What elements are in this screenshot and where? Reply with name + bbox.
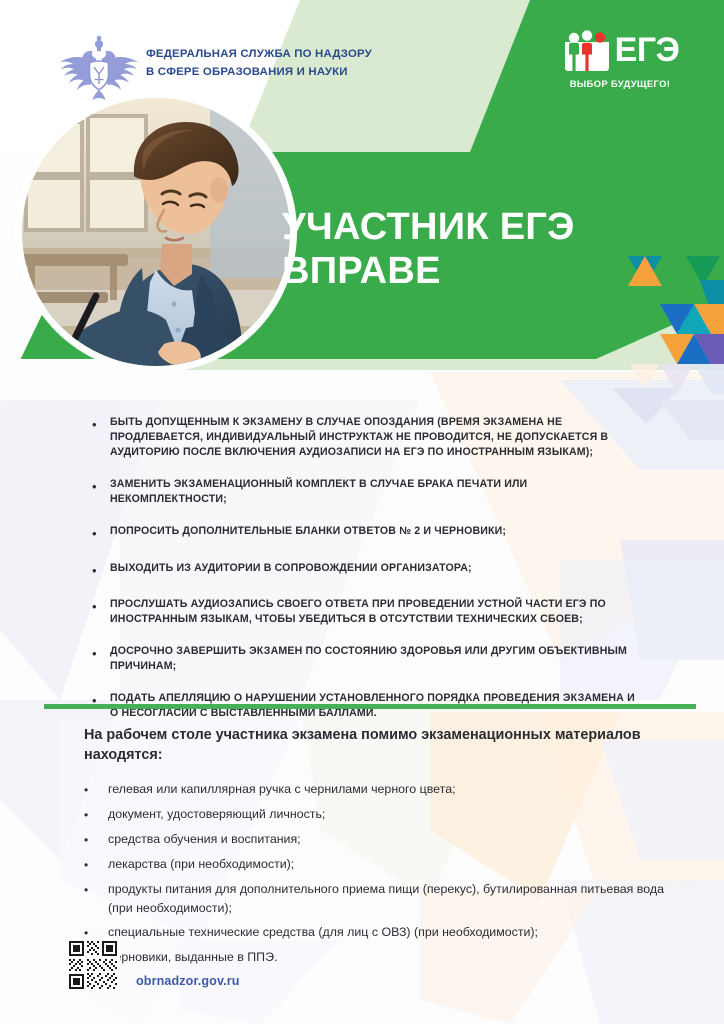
desk-item-text: лекарства (при необходимости); <box>108 855 294 874</box>
bullet-marker: • <box>84 780 108 799</box>
website-link[interactable]: obrnadzor.gov.ru <box>136 974 240 988</box>
list-item: • продукты питания для дополнительного п… <box>84 880 664 917</box>
list-item: • специальные технические средства (для … <box>84 923 664 942</box>
list-item: • гелевая или капиллярная ручка с чернил… <box>84 780 664 799</box>
bullet-marker: • <box>84 880 108 917</box>
rights-item-text: ДОСРОЧНО ЗАВЕРШИТЬ ЭКЗАМЕН ПО СОСТОЯНИЮ … <box>110 644 644 674</box>
desk-items-section: На рабочем столе участника экзамена поми… <box>84 725 664 973</box>
list-item: • ЗАМЕНИТЬ ЭКЗАМЕНАЦИОННЫЙ КОМПЛЕКТ В СЛ… <box>92 477 644 507</box>
student-photo <box>22 98 290 366</box>
desk-item-text: средства обучения и воспитания; <box>108 830 301 849</box>
rosobrnadzor-eagle-emblem-icon <box>56 34 142 104</box>
ege-three-figures-icon <box>561 28 613 72</box>
desk-item-text: гелевая или капиллярная ручка с чернилам… <box>108 780 456 799</box>
rights-item-text: ВЫХОДИТЬ ИЗ АУДИТОРИИ В СОПРОВОЖДЕНИИ ОР… <box>110 561 472 580</box>
bullet-marker: • <box>84 805 108 824</box>
ege-logo: ЕГЭ ВЫБОР БУДУЩЕГО! <box>552 28 688 90</box>
ege-logo-text: ЕГЭ <box>615 33 680 67</box>
bullet-marker: • <box>92 561 110 580</box>
list-item: • ПОПРОСИТЬ ДОПОЛНИТЕЛЬНЫЕ БЛАНКИ ОТВЕТО… <box>92 524 644 543</box>
rights-item-text: БЫТЬ ДОПУЩЕННЫМ К ЭКЗАМЕНУ В СЛУЧАЕ ОПОЗ… <box>110 415 644 460</box>
desk-item-text: черновики, выданные в ППЭ. <box>108 948 277 967</box>
org-name-line2: В СФЕРЕ ОБРАЗОВАНИЯ И НАУКИ <box>146 64 372 82</box>
desk-item-text: документ, удостоверяющий личность; <box>108 805 325 824</box>
desk-item-text: продукты питания для дополнительного при… <box>108 880 664 917</box>
list-item: • документ, удостоверяющий личность; <box>84 805 664 824</box>
desk-item-text: специальные технические средства (для ли… <box>108 923 538 942</box>
page-title: УЧАСТНИК ЕГЭ ВПРАВЕ <box>282 205 575 293</box>
rights-item-text: ЗАМЕНИТЬ ЭКЗАМЕНАЦИОННЫЙ КОМПЛЕКТ В СЛУЧ… <box>110 477 644 507</box>
section-divider <box>44 704 696 709</box>
rights-item-text: ПРОСЛУШАТЬ АУДИОЗАПИСЬ СВОЕГО ОТВЕТА ПРИ… <box>110 597 644 627</box>
triangle-mosaic-decoration-icon <box>600 238 724 403</box>
poster-root: ФЕДЕРАЛЬНАЯ СЛУЖБА ПО НАДЗОРУ В СФЕРЕ ОБ… <box>0 0 724 1024</box>
page-title-line1: УЧАСТНИК ЕГЭ <box>282 205 575 249</box>
ege-logo-mark: ЕГЭ <box>552 28 688 72</box>
list-item: • ДОСРОЧНО ЗАВЕРШИТЬ ЭКЗАМЕН ПО СОСТОЯНИ… <box>92 644 644 674</box>
bullet-marker: • <box>84 830 108 849</box>
desk-section-heading: На рабочем столе участника экзамена поми… <box>84 725 664 766</box>
student-writing-exam-photo-icon <box>22 98 290 366</box>
bullet-marker: • <box>92 644 110 674</box>
bullet-marker: • <box>92 415 110 460</box>
page-title-line2: ВПРАВЕ <box>282 249 575 293</box>
list-item: • ПРОСЛУШАТЬ АУДИОЗАПИСЬ СВОЕГО ОТВЕТА П… <box>92 597 644 627</box>
organization-name: ФЕДЕРАЛЬНАЯ СЛУЖБА ПО НАДЗОРУ В СФЕРЕ ОБ… <box>146 46 372 81</box>
bullet-marker: • <box>92 597 110 627</box>
ege-tagline: ВЫБОР БУДУЩЕГО! <box>552 79 688 90</box>
qr-code-icon[interactable] <box>66 938 120 992</box>
list-item: • черновики, выданные в ППЭ. <box>84 948 664 967</box>
org-name-line1: ФЕДЕРАЛЬНАЯ СЛУЖБА ПО НАДЗОРУ <box>146 46 372 64</box>
bullet-marker: • <box>84 855 108 874</box>
bullet-marker: • <box>92 477 110 507</box>
list-item: • БЫТЬ ДОПУЩЕННЫМ К ЭКЗАМЕНУ В СЛУЧАЕ ОП… <box>92 415 644 460</box>
rights-list: • БЫТЬ ДОПУЩЕННЫМ К ЭКЗАМЕНУ В СЛУЧАЕ ОП… <box>92 415 644 721</box>
list-item: • лекарства (при необходимости); <box>84 855 664 874</box>
list-item: • ВЫХОДИТЬ ИЗ АУДИТОРИИ В СОПРОВОЖДЕНИИ … <box>92 561 644 580</box>
rights-item-text: ПОПРОСИТЬ ДОПОЛНИТЕЛЬНЫЕ БЛАНКИ ОТВЕТОВ … <box>110 524 506 543</box>
bullet-marker: • <box>92 524 110 543</box>
list-item: • средства обучения и воспитания; <box>84 830 664 849</box>
